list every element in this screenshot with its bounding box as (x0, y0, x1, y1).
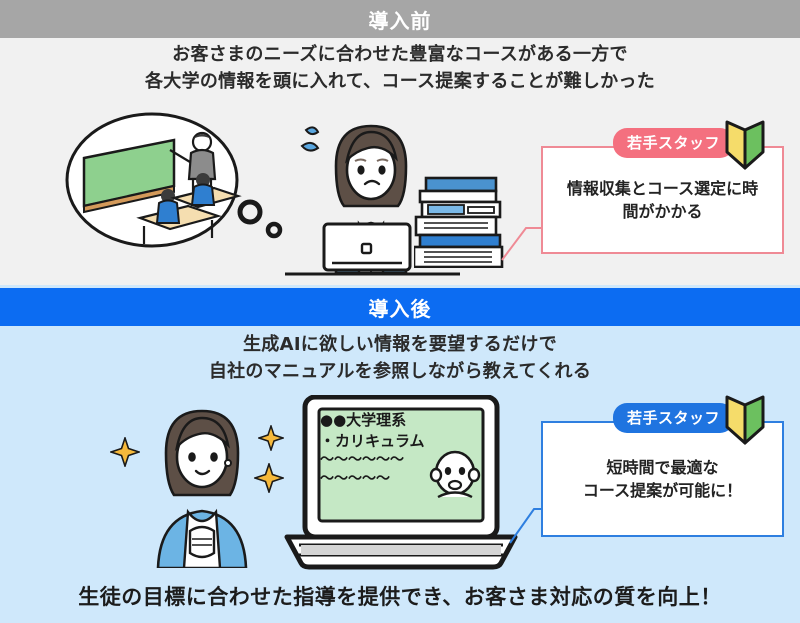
before-lead-line1: お客さまのニーズに合わせた豊富なコースがある一方で (0, 41, 800, 68)
before-lead-text: お客さまのニーズに合わせた豊富なコースがある一方で 各大学の情報を頭に入れて、コ… (0, 41, 800, 96)
after-band-label: 導入後 (369, 293, 432, 322)
before-band-label: 導入前 (369, 5, 432, 34)
thought-bubble-classroom (62, 110, 242, 259)
before-staff-badge: 若手スタッフ (613, 128, 734, 158)
after-staff-badge: 若手スタッフ (613, 403, 734, 433)
before-callout-text: 情報収集とコース選定に時 間がかかる (557, 177, 768, 223)
ai-assistant-avatar-icon (424, 447, 486, 513)
wakaba-leaf-icon (722, 118, 768, 174)
screen-line-1: ●●大学理系 (320, 411, 468, 431)
sparkle-icon-left (110, 437, 140, 471)
before-band: 導入前 (0, 0, 800, 38)
infographic-root: 導入前 お客さまのニーズに合わせた豊富なコースがある一方で 各大学の情報を頭に入… (0, 0, 800, 623)
sweat-drops-icon (302, 127, 318, 150)
before-callout-line1: 情報収集とコース選定に時 (567, 179, 758, 198)
after-lead-line2: 自社のマニュアルを参照しながら教えてくれる (0, 358, 800, 385)
before-callout-line2: 間がかかる (622, 202, 702, 221)
section-before: 導入前 お客さまのニーズに合わせた豊富なコースがある一方で 各大学の情報を頭に入… (0, 0, 800, 285)
conclusion-text: 生徒の目標に合わせた指導を提供でき、お客さま対応の質を向上！ (0, 581, 800, 611)
after-callout-line1: 短時間で最適な (606, 458, 718, 477)
thought-trail-icon (236, 196, 292, 250)
after-callout-line2: コース提案が可能に！ (583, 481, 742, 500)
after-callout-text: 短時間で最適な コース提案が可能に！ (573, 456, 752, 502)
book-stack-icon (414, 176, 510, 272)
section-after: 導入後 生成AIに欲しい情報を要望するだけで 自社のマニュアルを参照しながら教え… (0, 285, 800, 623)
wakaba-leaf-icon-after (722, 393, 768, 449)
after-lead-line1: 生成AIに欲しい情報を要望するだけで (0, 331, 800, 358)
before-lead-line2: 各大学の情報を頭に入れて、コース提案することが難しかった (0, 68, 800, 95)
after-band: 導入後 (0, 288, 800, 326)
after-lead-text: 生成AIに欲しい情報を要望するだけで 自社のマニュアルを参照しながら教えてくれる (0, 331, 800, 386)
